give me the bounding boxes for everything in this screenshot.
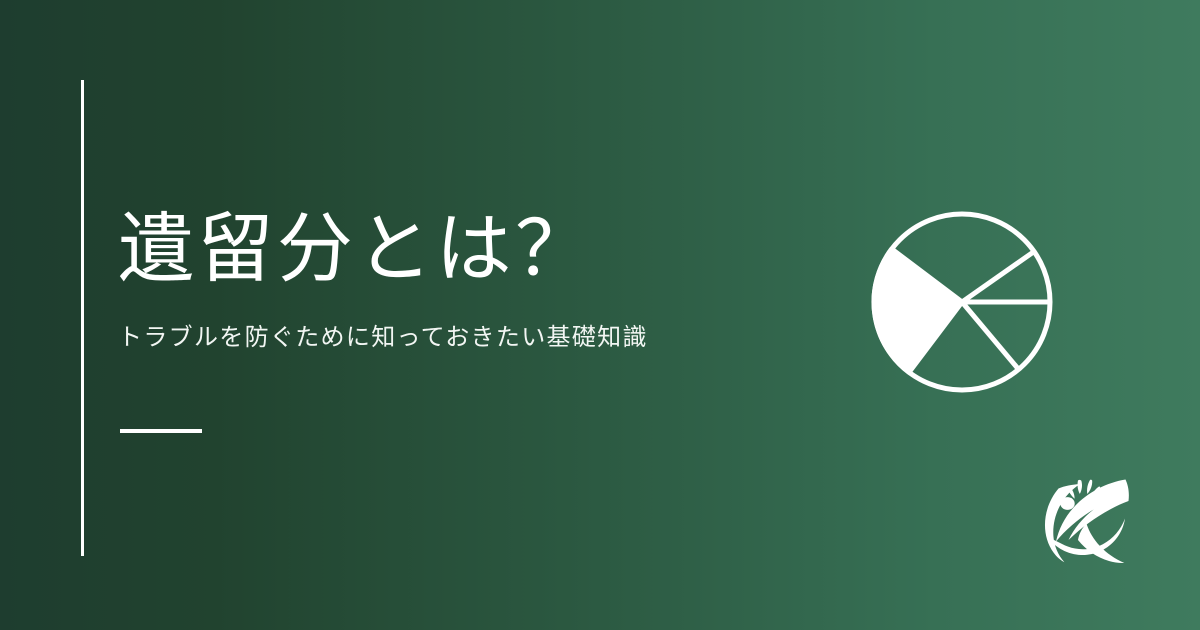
leaf-ribbon-tail <box>1078 524 1124 563</box>
hero-text-block: 遺留分とは？ トラブルを防ぐために知っておきたい基礎知識 <box>118 206 818 355</box>
pie-chart-icon <box>862 202 1062 402</box>
left-accent-rule <box>81 80 84 556</box>
og-image-card: 遺留分とは？ トラブルを防ぐために知っておきたい基礎知識 <box>0 0 1200 630</box>
divider-dash <box>120 429 202 433</box>
pie-filled-sector <box>874 249 962 372</box>
leaf-petal-dot <box>1060 497 1074 510</box>
page-title: 遺留分とは？ <box>118 206 818 296</box>
pie-spoke-1 <box>962 252 1034 303</box>
leaf-petal-2 <box>1087 480 1092 494</box>
leaf-logo <box>1034 466 1138 566</box>
leaf-petal-1 <box>1078 480 1082 494</box>
pie-spoke-3 <box>962 302 1019 369</box>
page-subtitle: トラブルを防ぐために知っておきたい基礎知識 <box>118 296 818 356</box>
